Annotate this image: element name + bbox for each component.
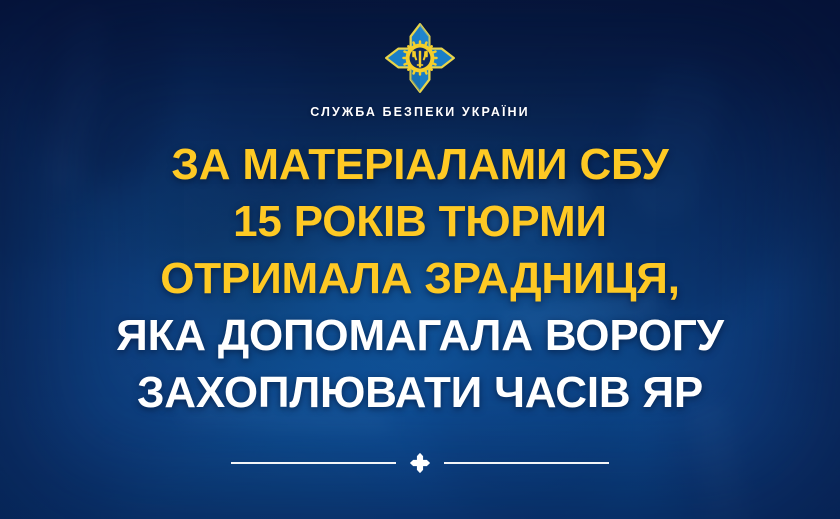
headline-line-3: ОТРИМАЛА ЗРАДНИЦЯ, (10, 250, 830, 307)
cross-pattee-icon (409, 452, 431, 474)
divider-rule-right (444, 462, 609, 464)
headline: ЗА МАТЕРІАЛАМИ СБУ 15 РОКІВ ТЮРМИ ОТРИМА… (0, 136, 840, 421)
headline-line-1: ЗА МАТЕРІАЛАМИ СБУ (10, 136, 830, 193)
bottom-divider (0, 452, 840, 474)
poster-content: СЛУЖБА БЕЗПЕКИ УКРАЇНИ ЗА МАТЕРІАЛАМИ СБ… (0, 0, 840, 519)
headline-line-4: ЯКА ДОПОМАГАЛА ВОРОГУ (10, 307, 830, 364)
headline-line-5: ЗАХОПЛЮВАТИ ЧАСІВ ЯР (10, 364, 830, 421)
organisation-name: СЛУЖБА БЕЗПЕКИ УКРАЇНИ (310, 105, 529, 119)
headline-line-2: 15 РОКІВ ТЮРМИ (10, 193, 830, 250)
sbu-emblem (384, 22, 456, 94)
poster: СЛУЖБА БЕЗПЕКИ УКРАЇНИ ЗА МАТЕРІАЛАМИ СБ… (0, 0, 840, 519)
divider-rule-left (231, 462, 396, 464)
